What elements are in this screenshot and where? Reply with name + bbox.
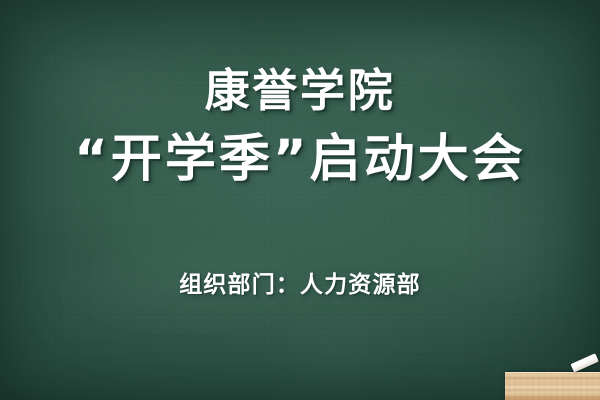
slide-title-line-1: 康誉学院: [0, 68, 600, 113]
wood-grain-texture: [505, 373, 600, 400]
wooden-chalk-ledge: [505, 372, 600, 400]
presentation-slide: 康誉学院 “开学季”启动大会 组织部门：人力资源部: [0, 0, 600, 400]
slide-content: 康誉学院 “开学季”启动大会 组织部门：人力资源部: [0, 0, 600, 400]
slide-title-line-2: “开学季”启动大会: [0, 134, 600, 185]
slide-subtitle-organizing-department: 组织部门：人力资源部: [0, 274, 600, 297]
